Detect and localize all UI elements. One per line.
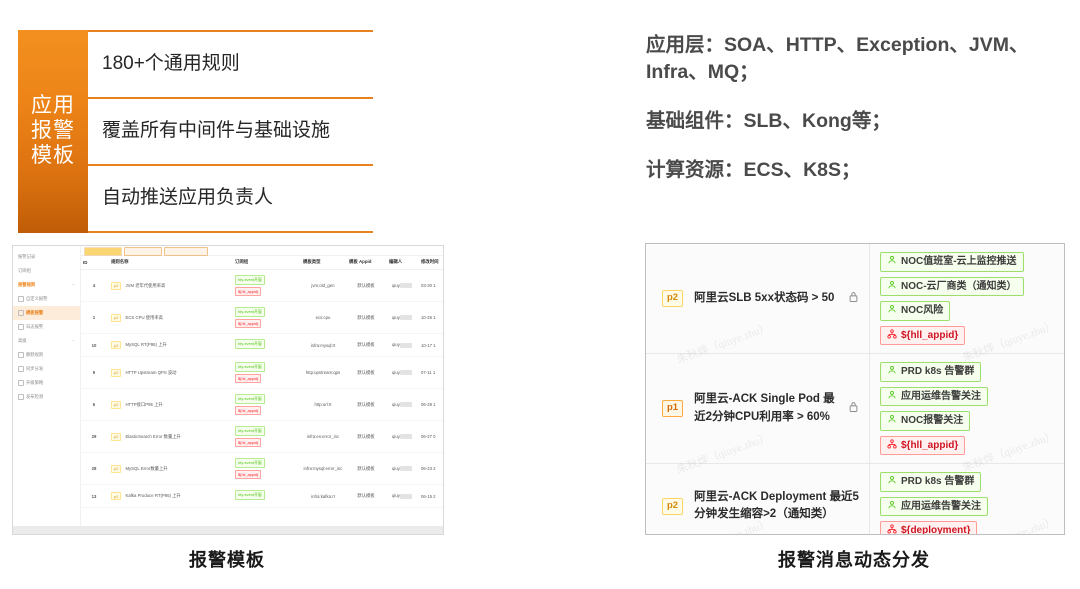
dispatch-rule-cell: p1阿里云-ACK Single Pod 最近2分钟CPU利用率 > 60%朱秋… bbox=[646, 354, 869, 463]
table-row[interactable]: 9p2HTTP Upstream QPS 波动hty-event开窗${hll_… bbox=[80, 357, 443, 389]
cell-editor: qiuy bbox=[386, 334, 418, 357]
feature-row-1: 180+个通用规则 bbox=[88, 30, 373, 97]
cell-editor: qiuy bbox=[386, 485, 418, 508]
rule-name-text: HTTP Upstream QPS 波动 bbox=[125, 370, 176, 375]
cell-template-appid: 默认模板 bbox=[346, 334, 386, 357]
cell-template-type: infra:mysql:error_inc bbox=[300, 453, 346, 485]
cell-subscription-group: hty-event开窗 bbox=[232, 485, 300, 508]
cell-template-appid: 默认模板 bbox=[346, 485, 386, 508]
cell-modified-time: 03-30 1 bbox=[418, 270, 443, 302]
feature-row-2: 覆盖所有中间件与基础设施 bbox=[88, 97, 373, 164]
chip-label: PRD k8s 告警群 bbox=[901, 365, 974, 379]
col-template-appid[interactable]: 模板 Appid bbox=[346, 255, 386, 270]
cell-template-type: ecs:cpu bbox=[300, 302, 346, 334]
dispatch-rule-title: 阿里云-ACK Deployment 最近5分钟发生缩容>2（通知类） bbox=[694, 489, 863, 524]
dispatch-target-chip[interactable]: 应用运维告警关注 bbox=[880, 497, 988, 517]
subscription-tag-red: ${hll_appid} bbox=[235, 438, 261, 447]
cell-subscription-group: hty-event开窗${hll_appid} bbox=[232, 270, 300, 302]
caption-alert-dispatch: 报警消息动态分发 bbox=[645, 546, 1063, 572]
sidebar-item-label: 静默规则 bbox=[26, 352, 43, 358]
cell-id: 10 bbox=[80, 334, 108, 357]
cell-subscription-group: hty-event开窗${hll_appid} bbox=[232, 453, 300, 485]
cell-editor: qiuy bbox=[386, 421, 418, 453]
cell-modified-time: 10-26 1 bbox=[418, 302, 443, 334]
table-row[interactable]: 6p2HTTP接口P95 上升hty-event开窗${hll_appid}ht… bbox=[80, 389, 443, 421]
table-main-area: ID 规则名称 订阅组 模板类型 模板 Appid 编辑人 修改时间 4p2JV… bbox=[80, 255, 443, 534]
cell-modified-time: 07-11 1 bbox=[418, 357, 443, 389]
subscription-tag-green: hty-event开窗 bbox=[235, 307, 265, 317]
col-subscription[interactable]: 订阅组 bbox=[232, 255, 300, 270]
chip-label: NOC报警关注 bbox=[901, 414, 963, 428]
col-template-type[interactable]: 模板类型 bbox=[300, 255, 346, 270]
sidebar-item-label: 报警规则 bbox=[18, 282, 35, 288]
cell-editor: qiuy bbox=[386, 357, 418, 389]
col-name[interactable]: 规则名称 bbox=[108, 255, 232, 270]
table-row[interactable]: 13p2Kafka Produce RT(P95) 上升hty-event开窗i… bbox=[80, 485, 443, 508]
sidebar-item-label: 同步分发 bbox=[26, 366, 43, 372]
rule-name-text: ECS CPU 使用率高 bbox=[125, 315, 162, 320]
sync-icon bbox=[18, 366, 24, 372]
cell-id: 29 bbox=[80, 421, 108, 453]
redacted-block bbox=[400, 283, 412, 288]
sidebar-item-label: 报警记录 bbox=[18, 254, 35, 260]
lock-icon bbox=[848, 400, 859, 418]
dispatch-target-chip[interactable]: PRD k8s 告警群 bbox=[880, 362, 981, 382]
chip-label: PRD k8s 告警群 bbox=[901, 475, 974, 489]
sidebar-item-1[interactable]: 订阅组 bbox=[13, 264, 80, 278]
dispatch-target-chip[interactable]: NOC报警关注 bbox=[880, 411, 970, 431]
sidebar-item-label: 模板报警 bbox=[26, 310, 43, 316]
dispatch-variable-chip[interactable]: ${deployment} bbox=[880, 521, 977, 535]
chevron-up-icon[interactable]: ⌃ bbox=[72, 283, 75, 288]
dispatch-row[interactable]: p2阿里云-ACK Deployment 最近5分钟发生缩容>2（通知类）朱秋烨… bbox=[646, 464, 1064, 535]
table-bottom-bar bbox=[13, 526, 443, 534]
cell-template-appid: 默认模板 bbox=[346, 453, 386, 485]
priority-badge: p1 bbox=[662, 400, 683, 417]
sidebar-item-0[interactable]: 报警记录 bbox=[13, 250, 80, 264]
rule-name-text: Kafka Produce RT(P95) 上升 bbox=[125, 493, 180, 498]
rule-name-text: JVM 老年代使用率高 bbox=[125, 283, 165, 288]
priority-badge: p2 bbox=[662, 290, 683, 307]
subscription-tag-green: hty-event开窗 bbox=[235, 275, 265, 285]
chip-label: NOC风险 bbox=[901, 304, 943, 318]
sidebar-item-7[interactable]: 静默规则 bbox=[13, 348, 80, 362]
chip-label: 应用运维告警关注 bbox=[901, 390, 981, 404]
subscription-tag-red: ${hll_appid} bbox=[235, 319, 261, 328]
cell-subscription-group: hty-event开窗${hll_appid} bbox=[232, 302, 300, 334]
cell-template-type: jvm:old_gen bbox=[300, 270, 346, 302]
lock-icon bbox=[848, 290, 859, 308]
cell-modified-time: 06-29 1 bbox=[418, 389, 443, 421]
alert-dispatch-screenshot: p2阿里云SLB 5xx状态码 > 50朱秋烨（qiuye.zhu）NOC值班室… bbox=[645, 243, 1065, 535]
cell-id: 13 bbox=[80, 485, 108, 508]
cell-editor: qiuy bbox=[386, 453, 418, 485]
dispatch-targets-cell: NOC值班室-云上监控推送NOC-云厂商类（通知类）NOC风险${hll_app… bbox=[869, 244, 1064, 353]
sitemap-icon bbox=[887, 524, 897, 535]
chip-label: NOC值班室-云上监控推送 bbox=[901, 255, 1017, 269]
cell-rule-name: p2JVM 老年代使用率高 bbox=[108, 270, 232, 302]
dispatch-targets-cell: PRD k8s 告警群应用运维告警关注NOC报警关注${hll_appid}朱秋… bbox=[869, 354, 1064, 463]
cell-modified-time: 06-27 0 bbox=[418, 421, 443, 453]
dispatch-target-chip[interactable]: NOC风险 bbox=[880, 301, 950, 321]
subscription-tag-green: hty-event开窗 bbox=[235, 490, 265, 500]
cell-rule-name: p2ElasticSearch Error 数量上升 bbox=[108, 421, 232, 453]
redacted-block bbox=[400, 434, 412, 439]
subscription-tag-green: hty-event开窗 bbox=[235, 394, 265, 404]
dispatch-variable-chip[interactable]: ${hll_appid} bbox=[880, 326, 965, 346]
feature-rule-list: 180+个通用规则 覆盖所有中间件与基础设施 自动推送应用负责人 bbox=[88, 30, 373, 233]
cell-id: 28 bbox=[80, 453, 108, 485]
feature-row-3: 自动推送应用负责人 bbox=[88, 164, 373, 231]
rules-table: ID 规则名称 订阅组 模板类型 模板 Appid 编辑人 修改时间 4p2JV… bbox=[80, 255, 443, 508]
priority-badge: p2 bbox=[111, 314, 121, 322]
cell-template-type: infra:es:error_inc bbox=[300, 421, 346, 453]
redacted-block bbox=[400, 315, 412, 320]
cell-subscription-group: hty-event开窗 bbox=[232, 334, 300, 357]
table-row[interactable]: 28p2MySQL Error数量上升hty-event开窗${hll_appi… bbox=[80, 453, 443, 485]
sidebar-item-6[interactable]: 高级⌃ bbox=[13, 334, 80, 348]
sitemap-icon bbox=[887, 329, 897, 342]
subscription-tag-green: hty-event开窗 bbox=[235, 339, 265, 349]
template-icon bbox=[18, 310, 24, 316]
subscription-tag-green: hty-event开窗 bbox=[235, 362, 265, 372]
group-icon bbox=[887, 390, 897, 403]
dispatch-target-chip[interactable]: NOC值班室-云上监控推送 bbox=[880, 252, 1024, 272]
sidebar-item-9[interactable]: 升级策略 bbox=[13, 376, 80, 390]
sidebar-item-2[interactable]: 报警规则⌃ bbox=[13, 278, 80, 292]
cell-template-type: http:url:rt bbox=[300, 389, 346, 421]
cell-template-appid: 默认模板 bbox=[346, 389, 386, 421]
rule-name-text: ElasticSearch Error 数量上升 bbox=[125, 434, 180, 439]
sidebar-item-5[interactable]: 日志报警 bbox=[13, 320, 80, 334]
redacted-block bbox=[400, 466, 412, 471]
col-id[interactable]: ID bbox=[80, 255, 108, 270]
dispatch-variable-chip[interactable]: ${hll_appid} bbox=[880, 436, 965, 456]
mute-icon bbox=[18, 352, 24, 358]
sidebar-item-label: 升级策略 bbox=[26, 380, 43, 386]
dispatch-target-chip[interactable]: PRD k8s 告警群 bbox=[880, 472, 981, 492]
priority-badge: p2 bbox=[111, 433, 121, 441]
priority-badge: p2 bbox=[662, 498, 683, 515]
subscription-tag-red: ${hll_appid} bbox=[235, 470, 261, 479]
col-modified-time[interactable]: 修改时间 bbox=[418, 255, 443, 270]
sidebar-item-label: 日志报警 bbox=[26, 324, 43, 330]
chip-label: ${deployment} bbox=[901, 524, 970, 535]
chip-label: ${hll_appid} bbox=[901, 329, 958, 343]
table-row[interactable]: 4p2JVM 老年代使用率高hty-event开窗${hll_appid}jvm… bbox=[80, 270, 443, 302]
cell-subscription-group: hty-event开窗${hll_appid} bbox=[232, 389, 300, 421]
sidebar-item-8[interactable]: 同步分发 bbox=[13, 362, 80, 376]
group-icon bbox=[887, 255, 897, 268]
subscription-tag-green: hty-event开窗 bbox=[235, 426, 265, 436]
redacted-block bbox=[400, 494, 412, 499]
group-icon bbox=[887, 475, 897, 488]
priority-badge: p2 bbox=[111, 282, 121, 290]
application-alert-template-feature: 应用报警模板 180+个通用规则 覆盖所有中间件与基础设施 自动推送应用负责人 bbox=[18, 30, 373, 233]
sidebar-item-label: 订阅组 bbox=[18, 268, 31, 274]
dispatch-target-chip[interactable]: 应用运维告警关注 bbox=[880, 387, 988, 407]
redacted-block bbox=[400, 402, 412, 407]
orange-block-label: 应用报警模板 bbox=[31, 94, 75, 168]
redacted-block bbox=[400, 343, 412, 348]
rule-name-text: MySQL RT(P95) 上升 bbox=[125, 342, 166, 347]
dispatch-rule-title: 阿里云-ACK Single Pod 最近2分钟CPU利用率 > 60% bbox=[694, 391, 840, 426]
cell-rule-name: p2HTTP接口P95 上升 bbox=[108, 389, 232, 421]
dispatch-rule-cell: p2阿里云SLB 5xx状态码 > 50朱秋烨（qiuye.zhu） bbox=[646, 244, 869, 353]
table-row[interactable]: 1p2ECS CPU 使用率高hty-event开窗${hll_appid}ec… bbox=[80, 302, 443, 334]
subscription-tag-red: ${hll_appid} bbox=[235, 406, 261, 415]
dispatch-row[interactable]: p1阿里云-ACK Single Pod 最近2分钟CPU利用率 > 60%朱秋… bbox=[646, 354, 1064, 464]
table-header-row: ID 规则名称 订阅组 模板类型 模板 Appid 编辑人 修改时间 bbox=[80, 255, 443, 270]
coverage-text-block: 应用层：SOA、HTTP、Exception、JVM、Infra、MQ； 基础组… bbox=[646, 32, 1066, 184]
cell-modified-time: 06-15 2 bbox=[418, 485, 443, 508]
cell-subscription-group: hty-event开窗${hll_appid} bbox=[232, 357, 300, 389]
log-icon bbox=[18, 324, 24, 330]
table-row[interactable]: 29p2ElasticSearch Error 数量上升hty-event开窗$… bbox=[80, 421, 443, 453]
upgrade-icon bbox=[18, 380, 24, 386]
col-editor[interactable]: 编辑人 bbox=[386, 255, 418, 270]
chip-label: ${hll_appid} bbox=[901, 439, 958, 453]
subscription-tag-red: ${hll_appid} bbox=[235, 287, 261, 296]
dispatch-row[interactable]: p2阿里云SLB 5xx状态码 > 50朱秋烨（qiuye.zhu）NOC值班室… bbox=[646, 244, 1064, 354]
group-icon bbox=[887, 365, 897, 378]
priority-badge: p2 bbox=[111, 492, 121, 500]
redacted-block bbox=[400, 370, 412, 375]
group-icon bbox=[887, 280, 897, 293]
chevron-up-icon[interactable]: ⌃ bbox=[72, 339, 75, 344]
sidebar-item-label: 高级 bbox=[18, 338, 27, 344]
cell-rule-name: p2MySQL Error数量上升 bbox=[108, 453, 232, 485]
cell-modified-time: 06-23 2 bbox=[418, 453, 443, 485]
chip-label: NOC-云厂商类（通知类） bbox=[901, 280, 1017, 294]
sidebar-item-4[interactable]: 模板报警 bbox=[13, 306, 80, 320]
dispatch-rule-title: 阿里云SLB 5xx状态码 > 50 bbox=[694, 290, 840, 307]
bell-icon bbox=[18, 296, 24, 302]
cell-template-appid: 默认模板 bbox=[346, 302, 386, 334]
chip-label: 应用运维告警关注 bbox=[901, 500, 981, 514]
rule-name-text: HTTP接口P95 上升 bbox=[125, 402, 162, 407]
cell-template-appid: 默认模板 bbox=[346, 357, 386, 389]
rule-name-text: MySQL Error数量上升 bbox=[125, 466, 167, 471]
priority-badge: p2 bbox=[111, 465, 121, 473]
cell-subscription-group: hty-event开窗${hll_appid} bbox=[232, 421, 300, 453]
dispatch-targets-cell: PRD k8s 告警群应用运维告警关注${deployment}朱秋烨（qiuy… bbox=[869, 464, 1064, 535]
group-icon bbox=[887, 304, 897, 317]
caption-alert-template: 报警模板 bbox=[12, 546, 442, 572]
table-row[interactable]: 10p2MySQL RT(P95) 上升hty-event开窗infra:mys… bbox=[80, 334, 443, 357]
cell-rule-name: p2Kafka Produce RT(P95) 上升 bbox=[108, 485, 232, 508]
alert-template-table-screenshot: 报警记录订阅组报警规则⌃自定义报警模板报警日志报警高级⌃静默规则同步分发升级策略… bbox=[12, 245, 444, 535]
cell-template-type: http:upstream:qps bbox=[300, 357, 346, 389]
cell-editor: qiuy bbox=[386, 302, 418, 334]
group-icon bbox=[887, 414, 897, 427]
subscription-tag-red: ${hll_appid} bbox=[235, 374, 261, 383]
cell-template-type: infra:kafka:rt bbox=[300, 485, 346, 508]
subscription-tag-green: hty-event开窗 bbox=[235, 458, 265, 468]
cell-rule-name: p2ECS CPU 使用率高 bbox=[108, 302, 232, 334]
priority-badge: p2 bbox=[111, 369, 121, 377]
sidebar-item-10[interactable]: 发布检测 bbox=[13, 390, 80, 404]
cell-editor: qiuy bbox=[386, 270, 418, 302]
cell-id: 9 bbox=[80, 357, 108, 389]
dispatch-target-chip[interactable]: NOC-云厂商类（通知类） bbox=[880, 277, 1024, 297]
orange-label-block: 应用报警模板 bbox=[18, 30, 88, 233]
cell-id: 4 bbox=[80, 270, 108, 302]
group-icon bbox=[887, 500, 897, 513]
dispatch-rule-cell: p2阿里云-ACK Deployment 最近5分钟发生缩容>2（通知类）朱秋烨… bbox=[646, 464, 869, 535]
cell-rule-name: p2MySQL RT(P95) 上升 bbox=[108, 334, 232, 357]
cell-editor: qiuy bbox=[386, 389, 418, 421]
sidebar-item-label: 发布检测 bbox=[26, 394, 43, 400]
coverage-line-infrastructure: 基础组件：SLB、Kong等； bbox=[646, 108, 1066, 135]
release-icon bbox=[18, 394, 24, 400]
priority-badge: p2 bbox=[111, 401, 121, 409]
coverage-line-application: 应用层：SOA、HTTP、Exception、JVM、Infra、MQ； bbox=[646, 32, 1066, 86]
cell-modified-time: 10-17 1 bbox=[418, 334, 443, 357]
cell-template-appid: 默认模板 bbox=[346, 421, 386, 453]
table-sidebar: 报警记录订阅组报警规则⌃自定义报警模板报警日志报警高级⌃静默规则同步分发升级策略… bbox=[13, 246, 81, 534]
sidebar-item-label: 自定义报警 bbox=[26, 296, 47, 302]
cell-template-appid: 默认模板 bbox=[346, 270, 386, 302]
sitemap-icon bbox=[887, 439, 897, 452]
sidebar-item-3[interactable]: 自定义报警 bbox=[13, 292, 80, 306]
coverage-line-compute: 计算资源：ECS、K8S； bbox=[646, 157, 1066, 184]
cell-id: 6 bbox=[80, 389, 108, 421]
priority-badge: p2 bbox=[111, 341, 121, 349]
cell-id: 1 bbox=[80, 302, 108, 334]
cell-rule-name: p2HTTP Upstream QPS 波动 bbox=[108, 357, 232, 389]
cell-template-type: infra:mysql:rt bbox=[300, 334, 346, 357]
